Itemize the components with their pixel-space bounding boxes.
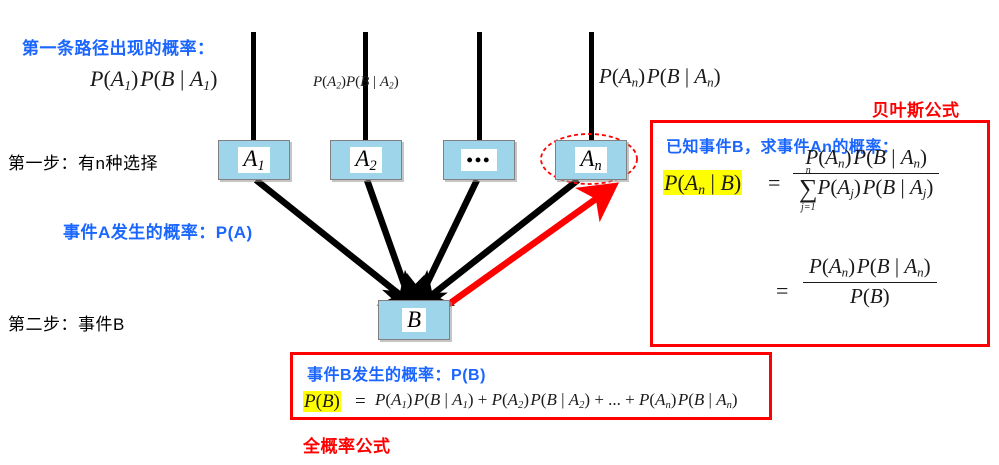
arrow-a2-to-b	[367, 180, 409, 298]
node-b-label: B	[402, 308, 426, 332]
diagram-canvas: A1 A2 ••• An B 第一条路径出现的概率： P(A1) P(B | A…	[0, 0, 999, 465]
step2-label: 第二步：事件B	[8, 310, 125, 335]
arrow-a1-to-b	[256, 180, 404, 298]
first-path-prob-label: 第一条路径出现的概率：	[22, 34, 215, 59]
bayes-title: 贝叶斯公式	[872, 96, 960, 121]
step1-label: 第一步：有n种选择	[8, 149, 158, 174]
node-a2[interactable]: A2	[330, 140, 402, 180]
node-an[interactable]: An	[555, 140, 627, 180]
total-prob-title: 全概率公式	[303, 432, 391, 457]
bayes-numerator: P(An) P(B | An)	[793, 145, 939, 173]
bayes-second-numerator: P(An) P(B | An)	[803, 254, 937, 282]
total-prob-equals: =	[355, 391, 366, 413]
bayes-main-fraction: P(An) P(B | An) ∑nj=1P(Aj) P(B | Aj)	[793, 145, 939, 201]
node-a2-label: A2	[350, 147, 381, 174]
node-a-ellipsis[interactable]: •••	[443, 140, 515, 180]
path-formula-2: P(A2)P(B | A2)	[313, 74, 399, 92]
bayes-equals-2: =	[776, 278, 788, 304]
total-prob-heading: 事件B发生的概率：P(B)	[307, 361, 486, 385]
bayes-second-denominator: P(B)	[803, 282, 937, 308]
bayes-formula-box: 已知事件B，求事件An的概率： P(An | B) = P(An) P(B | …	[650, 120, 990, 347]
node-a1[interactable]: A1	[218, 140, 290, 180]
arrow-b-to-an-red	[449, 196, 600, 304]
bayes-lhs: P(An | B)	[663, 170, 742, 198]
total-prob-rhs: P(A1) P(B | A1) + P(A2) P(B | A2) + ... …	[375, 390, 738, 411]
node-a-ellipsis-label: •••	[461, 149, 498, 172]
bayes-second-fraction: P(An) P(B | An) P(B)	[803, 254, 937, 308]
total-probability-box: 事件B发生的概率：P(B) P(B) = P(A1) P(B | A1) + P…	[290, 352, 772, 420]
bayes-denominator: ∑nj=1P(Aj) P(B | Aj)	[793, 173, 939, 202]
path-formula-1: P(A1) P(B | A1)	[90, 66, 217, 94]
summation-symbol: ∑nj=1	[799, 177, 818, 200]
total-prob-lhs: P(B)	[303, 391, 341, 413]
bayes-equals-1: =	[768, 170, 780, 196]
path-formula-n: P(An) P(B | An)	[599, 64, 721, 91]
node-an-label: An	[575, 147, 606, 174]
node-b[interactable]: B	[378, 300, 450, 340]
node-a1-label: A1	[238, 147, 269, 174]
event-a-prob-label: 事件A发生的概率：P(A)	[63, 218, 253, 243]
